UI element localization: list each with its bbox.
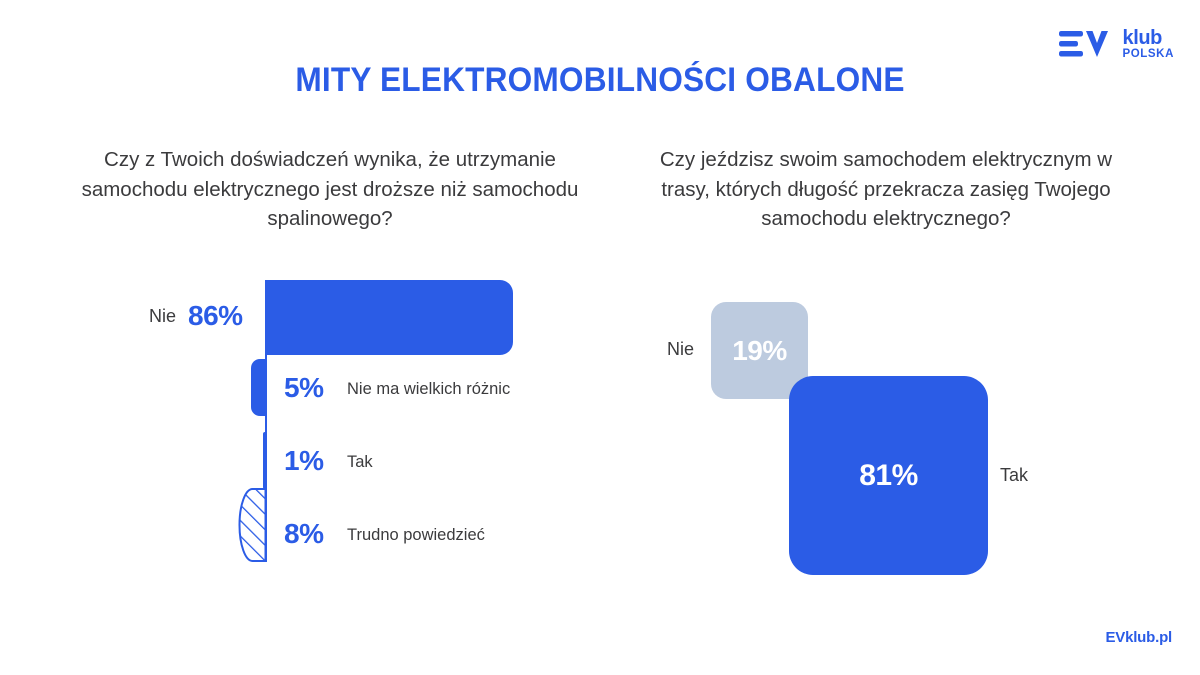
- page-title: MITY ELEKTROMOBILNOŚCI OBALONE: [42, 61, 1158, 100]
- ev-logo-icon: [1059, 28, 1115, 60]
- bar-tak: [263, 432, 267, 489]
- bar-category-nie: Nie: [149, 306, 176, 327]
- bar-value-nie: 86%: [188, 300, 243, 332]
- logo-wordmark: klub POLSKA: [1122, 28, 1174, 61]
- logo-polska-text: POLSKA: [1122, 49, 1174, 61]
- bar-nie-ma-wielkich-roznic: [251, 359, 267, 416]
- logo-klub-text: klub: [1122, 28, 1174, 48]
- hatched-bar-icon: [238, 488, 267, 562]
- bar-value-nie-ma-wielkich-roznic: 5%: [284, 372, 323, 404]
- right-square-chart: Nie 19% 81% Tak: [608, 295, 1164, 585]
- footer-site-link[interactable]: EVklub.pl: [1105, 629, 1172, 646]
- bar-label-tak: Tak: [347, 453, 373, 472]
- bar-nie: [266, 280, 513, 355]
- square-label-nie: Nie: [667, 339, 694, 360]
- right-panel: Czy jeździsz swoim samochodem elektryczn…: [608, 145, 1164, 234]
- bar-label-trudno-powiedziec: Trudno powiedzieć: [347, 526, 485, 545]
- square-value-tak: 81%: [859, 459, 918, 493]
- bar-value-trudno-powiedziec: 8%: [284, 518, 323, 550]
- left-panel: Czy z Twoich doświadczeń wynika, że utrz…: [52, 145, 608, 234]
- square-value-nie: 19%: [732, 335, 787, 367]
- right-question: Czy jeździsz swoim samochodem elektryczn…: [608, 145, 1164, 234]
- square-tak: 81%: [789, 376, 988, 575]
- brand-logo[interactable]: klub POLSKA: [1059, 28, 1174, 61]
- left-bar-chart: Nie 86% 5% Nie ma wielkich różnic 1% Tak…: [52, 277, 608, 577]
- square-label-tak: Tak: [1000, 465, 1028, 486]
- bar-value-tak: 1%: [284, 445, 323, 477]
- bar-label-nie-ma-wielkich-roznic: Nie ma wielkich różnic: [347, 380, 510, 399]
- bar-trudno-powiedziec: [238, 488, 267, 562]
- left-question: Czy z Twoich doświadczeń wynika, że utrz…: [52, 145, 608, 234]
